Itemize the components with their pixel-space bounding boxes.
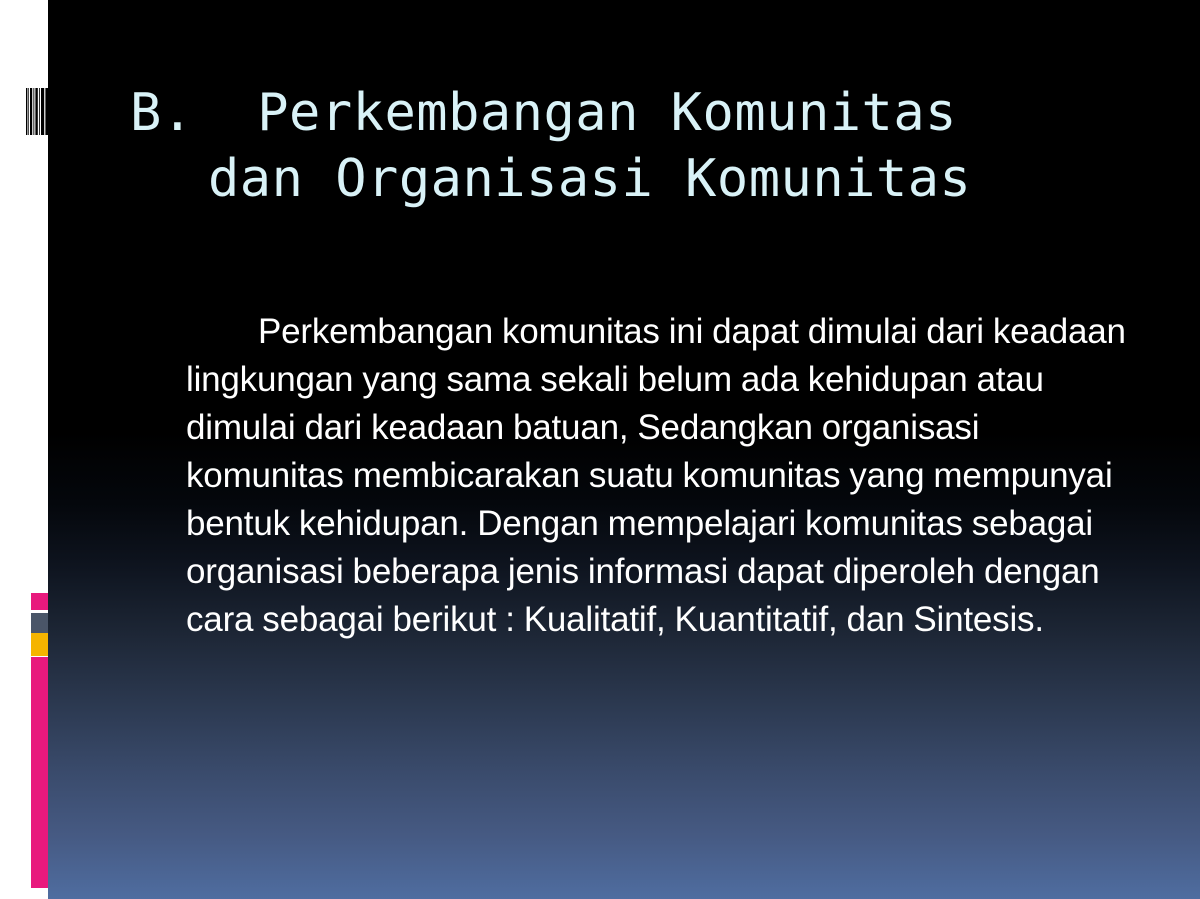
title-line-1: B. Perkembangan Komunitas <box>120 80 1140 146</box>
sidebar-block-pink-long <box>31 657 48 888</box>
presentation-slide: B. Perkembangan Komunitas dan Organisasi… <box>0 0 1200 899</box>
barcode-icon <box>26 88 48 135</box>
slide-body: Perkembangan komunitas ini dapat dimulai… <box>186 308 1134 644</box>
body-paragraph: Perkembangan komunitas ini dapat dimulai… <box>186 308 1134 644</box>
slide-title: B. Perkembangan Komunitas dan Organisasi… <box>120 80 1140 212</box>
sidebar-block-slate <box>31 613 48 633</box>
left-sidebar-strip <box>0 0 48 899</box>
title-line-2: dan Organisasi Komunitas <box>120 146 1140 212</box>
sidebar-block-pink-small <box>31 593 48 610</box>
sidebar-block-yellow <box>31 633 48 656</box>
